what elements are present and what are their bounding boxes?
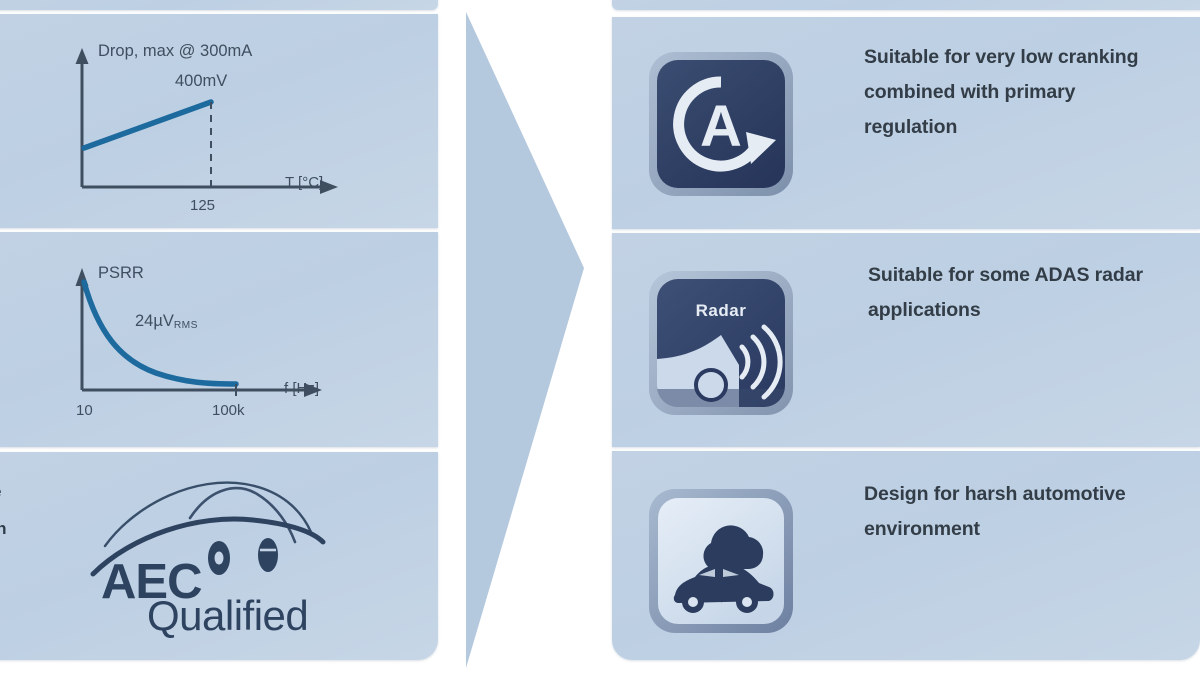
letter-a-glyph: A [700, 94, 742, 159]
dropout-y-axis-label: Drop, max @ 300mA [98, 42, 252, 61]
flow-arrow [462, 0, 592, 675]
car-rear-wheel-hub [688, 597, 698, 607]
car-front-wheel-hub [742, 597, 752, 607]
badge-wheel-left-hub [215, 552, 224, 565]
psrr-chart-svg [60, 262, 360, 432]
badge-wheel-right [258, 538, 278, 572]
y-axis-arrowhead [76, 48, 89, 64]
dropout-x-axis-label: T [°C] [285, 174, 323, 191]
psrr-chart: PSRR 24µVRMS f [Hz] 10 100k [60, 262, 360, 432]
auto-start-stop-icon: A [647, 50, 795, 198]
row-label-harsh-environment: Design for harsh automotive environment [864, 477, 1174, 547]
psrr-y-axis-label: PSRR [98, 264, 144, 283]
psrr-x-tick-10: 10 [76, 402, 93, 419]
flow-arrow-triangle [466, 12, 584, 668]
car-wheel [696, 370, 726, 400]
dropout-x-tick-125: 125 [190, 197, 215, 214]
left-panel-top-sliver [0, 0, 438, 10]
psrr-value-annotation: 24µVRMS [135, 312, 198, 331]
slide-canvas: Drop, max @ 300mA 400mV T [°C] 125 PSRR … [0, 0, 1200, 675]
aec-qualified-badge: AEC Qualified [85, 470, 355, 650]
cropped-text-fragment-1: e [0, 482, 1, 502]
psrr-value-main: 24µV [135, 312, 174, 330]
row-label-adas-radar: Suitable for some ADAS radar application… [868, 258, 1168, 328]
dropout-data-line [84, 102, 211, 148]
psrr-value-subscript: RMS [174, 320, 198, 331]
radar-caption: Radar [696, 301, 747, 320]
psrr-x-axis-label: f [Hz] [284, 380, 319, 397]
dropout-value-annotation: 400mV [175, 72, 227, 91]
psrr-x-tick-100k: 100k [212, 402, 245, 419]
row-label-auto-start-stop: Suitable for very low cranking combined … [864, 40, 1164, 145]
cropped-text-fragment-2: on [0, 519, 6, 539]
aec-badge-line2: Qualified [147, 592, 308, 640]
psrr-curve [84, 282, 236, 384]
dropout-voltage-chart: Drop, max @ 300mA 400mV T [°C] 125 [70, 44, 360, 204]
right-panel-top-sliver [612, 0, 1200, 10]
adas-radar-icon: Radar [647, 269, 795, 417]
harsh-environment-icon [647, 487, 795, 635]
